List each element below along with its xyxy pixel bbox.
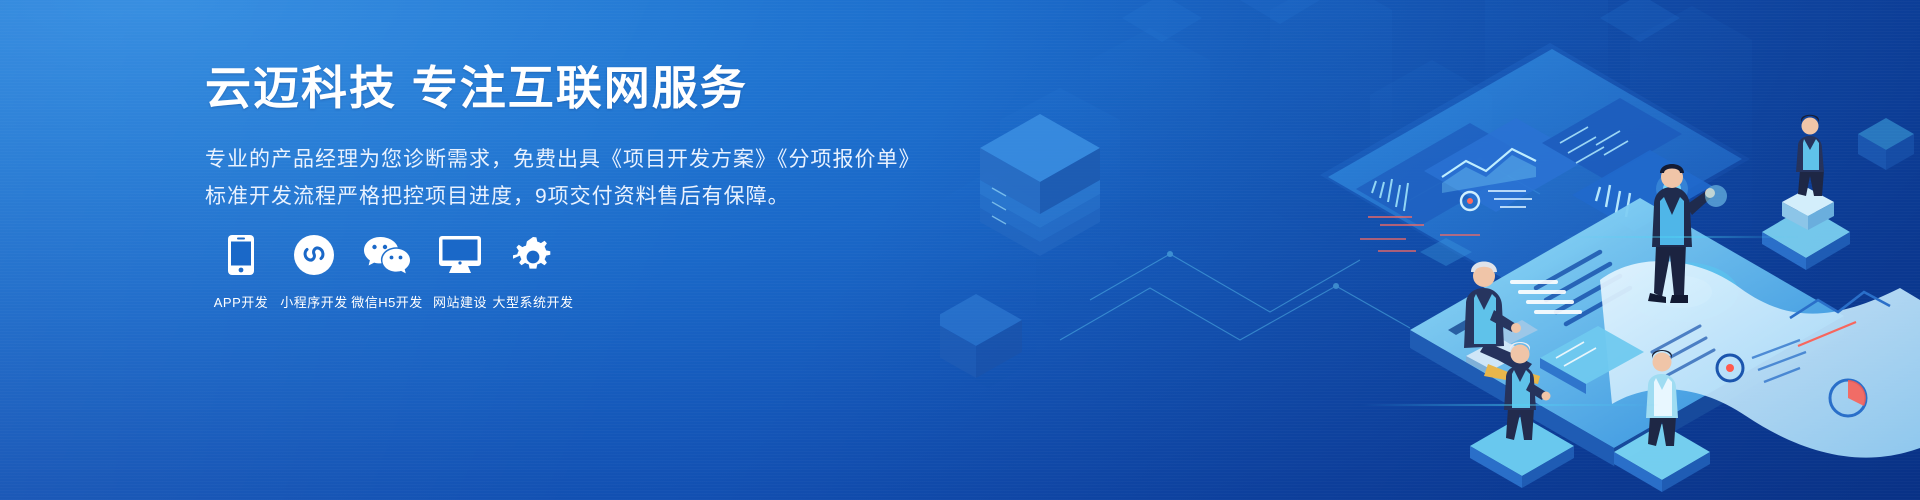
- service-item-miniprogram[interactable]: 小程序开发: [278, 232, 350, 311]
- service-label: 大型系统开发: [493, 292, 574, 311]
- service-list: APP开发 小程序开发 微信: [205, 232, 569, 311]
- touch-glow: [1705, 185, 1727, 207]
- hero-copy: 云迈科技 专注互联网服务 专业的产品经理为您诊断需求，免费出具《项目开发方案》《…: [205, 62, 921, 216]
- isometric-tech-illustration: [940, 0, 1920, 500]
- gear-icon: [513, 232, 553, 278]
- service-item-app[interactable]: APP开发: [205, 232, 277, 311]
- service-item-wechat-h5[interactable]: 微信H5开发: [351, 232, 423, 311]
- person-on-box-upper-right: [1762, 115, 1850, 270]
- subtitle-line-1: 专业的产品经理为您诊断需求，免费出具《项目开发方案》《分项报价单》: [205, 141, 921, 178]
- hero-subtitle: 专业的产品经理为您诊断需求，免费出具《项目开发方案》《分项报价单》 标准开发流程…: [205, 141, 921, 216]
- mobile-phone-icon: [228, 232, 254, 278]
- service-label: 小程序开发: [280, 292, 348, 311]
- mini-program-icon: [294, 232, 334, 278]
- hero-banner: 云迈科技 专注互联网服务 专业的产品经理为您诊断需求，免费出具《项目开发方案》《…: [0, 0, 1920, 500]
- subtitle-line-2: 标准开发流程严格把控项目进度，9项交付资料售后有保障。: [205, 178, 921, 215]
- wechat-icon: [364, 232, 410, 278]
- service-label: 网站建设: [433, 292, 487, 311]
- service-item-website[interactable]: 网站建设: [424, 232, 496, 311]
- monitor-icon: [439, 232, 481, 278]
- service-label: 微信H5开发: [351, 292, 423, 311]
- service-item-large-system[interactable]: 大型系统开发: [497, 232, 569, 311]
- page-title: 云迈科技 专注互联网服务: [205, 62, 921, 115]
- service-label: APP开发: [214, 292, 269, 311]
